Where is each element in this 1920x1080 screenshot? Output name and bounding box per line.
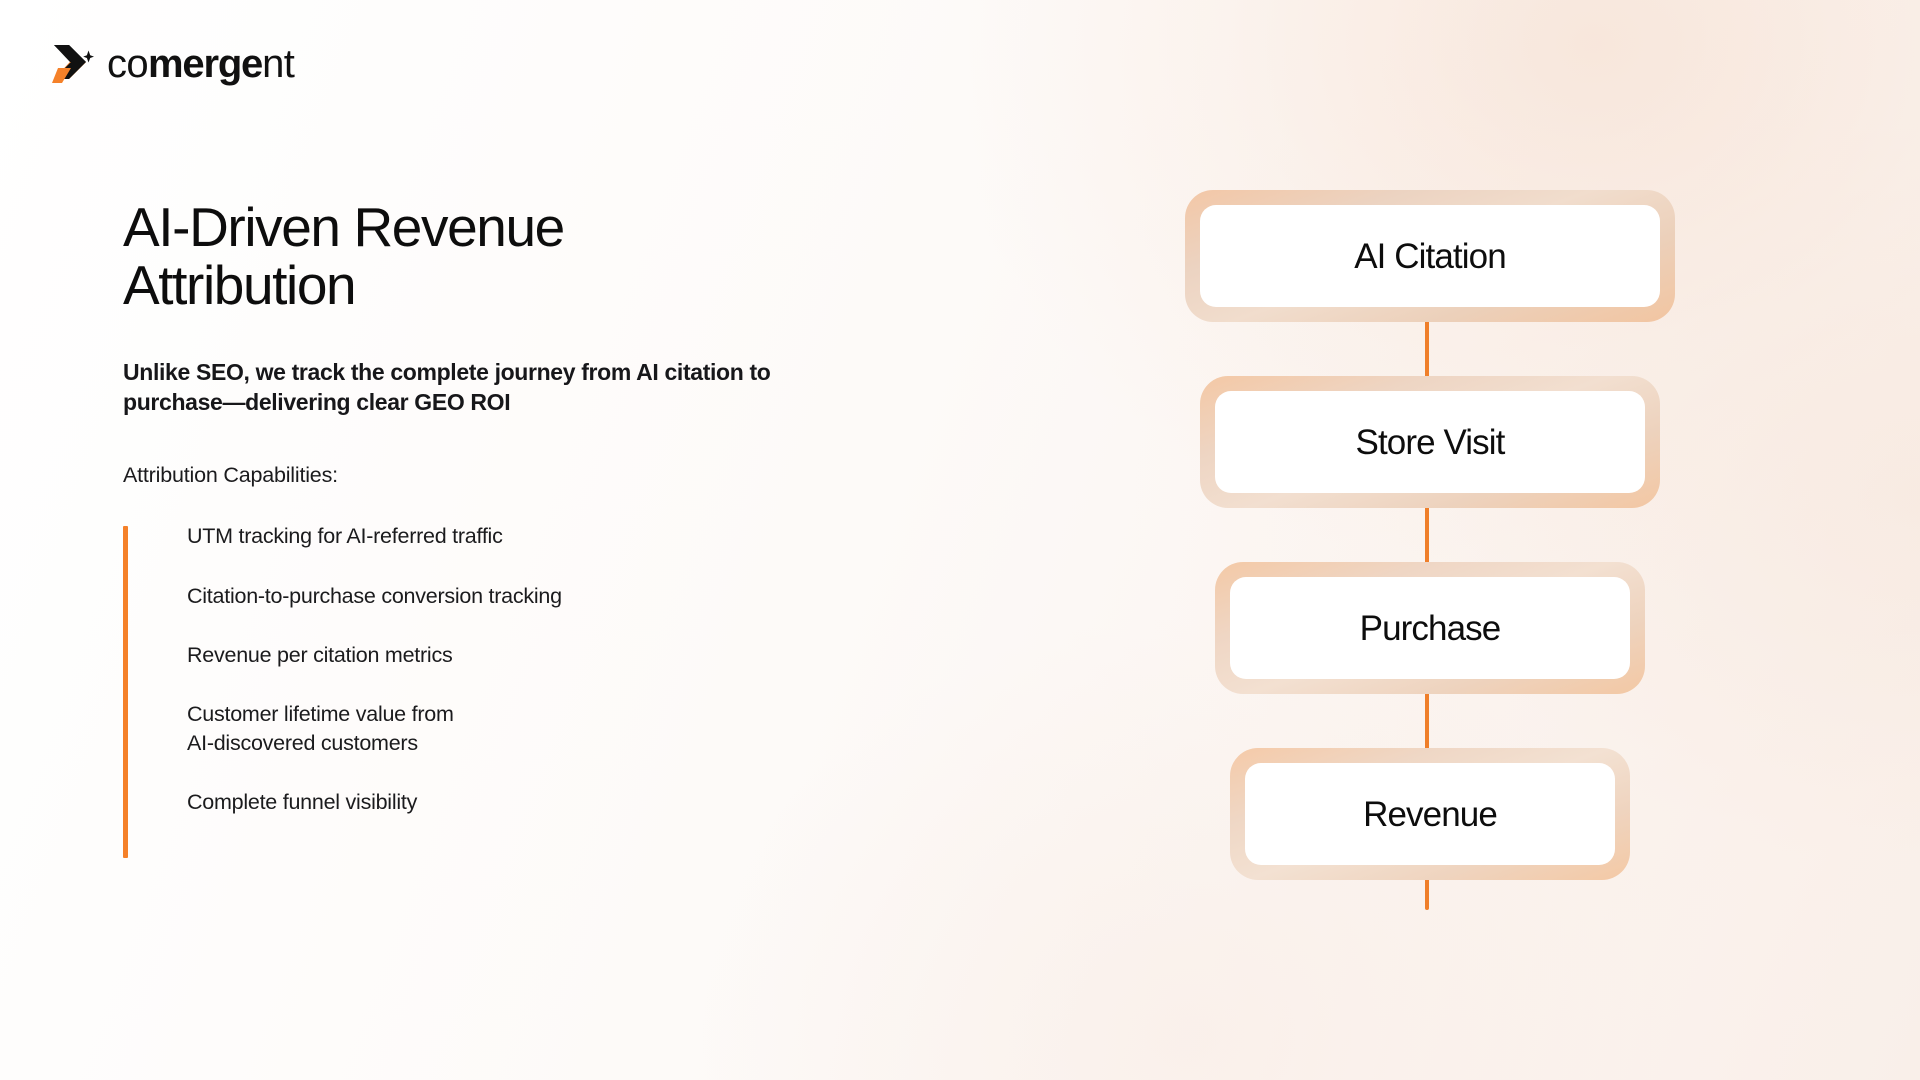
wordmark-part-bold: merge — [148, 42, 262, 86]
flow-node-surface: AI Citation — [1200, 205, 1660, 307]
list-accent-bar — [123, 526, 128, 858]
flow-node-store-visit[interactable]: Store Visit — [1200, 376, 1660, 508]
comergent-arrow-sparkle-icon — [50, 38, 94, 90]
flow-node-ai-citation[interactable]: AI Citation — [1185, 190, 1675, 322]
flow-node-label: Revenue — [1363, 797, 1497, 832]
flow-node-purchase[interactable]: Purchase — [1215, 562, 1645, 694]
intro-paragraph: Unlike SEO, we track the complete journe… — [123, 357, 863, 418]
flow-node-surface: Store Visit — [1215, 391, 1645, 493]
wordmark-part-pre: co — [107, 42, 148, 86]
list-item: UTM tracking for AI-referred traffic — [187, 522, 883, 550]
content-column: AI-Driven Revenue Attribution Unlike SEO… — [123, 198, 883, 817]
list-item: Revenue per citation metrics — [187, 641, 883, 669]
flow-node-surface: Purchase — [1230, 577, 1630, 679]
list-item: Complete funnel visibility — [187, 788, 883, 816]
brand-logo[interactable]: comergent — [50, 36, 294, 92]
attribution-flow-diagram: AI Citation Store Visit Purchase Revenue — [1175, 190, 1685, 920]
page-title: AI-Driven Revenue Attribution — [123, 198, 703, 315]
flow-node-label: AI Citation — [1354, 239, 1506, 274]
capabilities-label: Attribution Capabilities: — [123, 463, 883, 488]
list-item: Citation-to-purchase conversion tracking — [187, 582, 883, 610]
wordmark-part-post: nt — [262, 42, 294, 86]
flow-node-label: Store Visit — [1356, 425, 1505, 460]
flow-node-surface: Revenue — [1245, 763, 1615, 865]
brand-wordmark: comergent — [107, 44, 294, 84]
flow-node-revenue[interactable]: Revenue — [1230, 748, 1630, 880]
list-item: Customer lifetime value from AI-discover… — [187, 700, 883, 757]
flow-node-label: Purchase — [1360, 611, 1501, 646]
capabilities-list: UTM tracking for AI-referred traffic Cit… — [123, 522, 883, 816]
